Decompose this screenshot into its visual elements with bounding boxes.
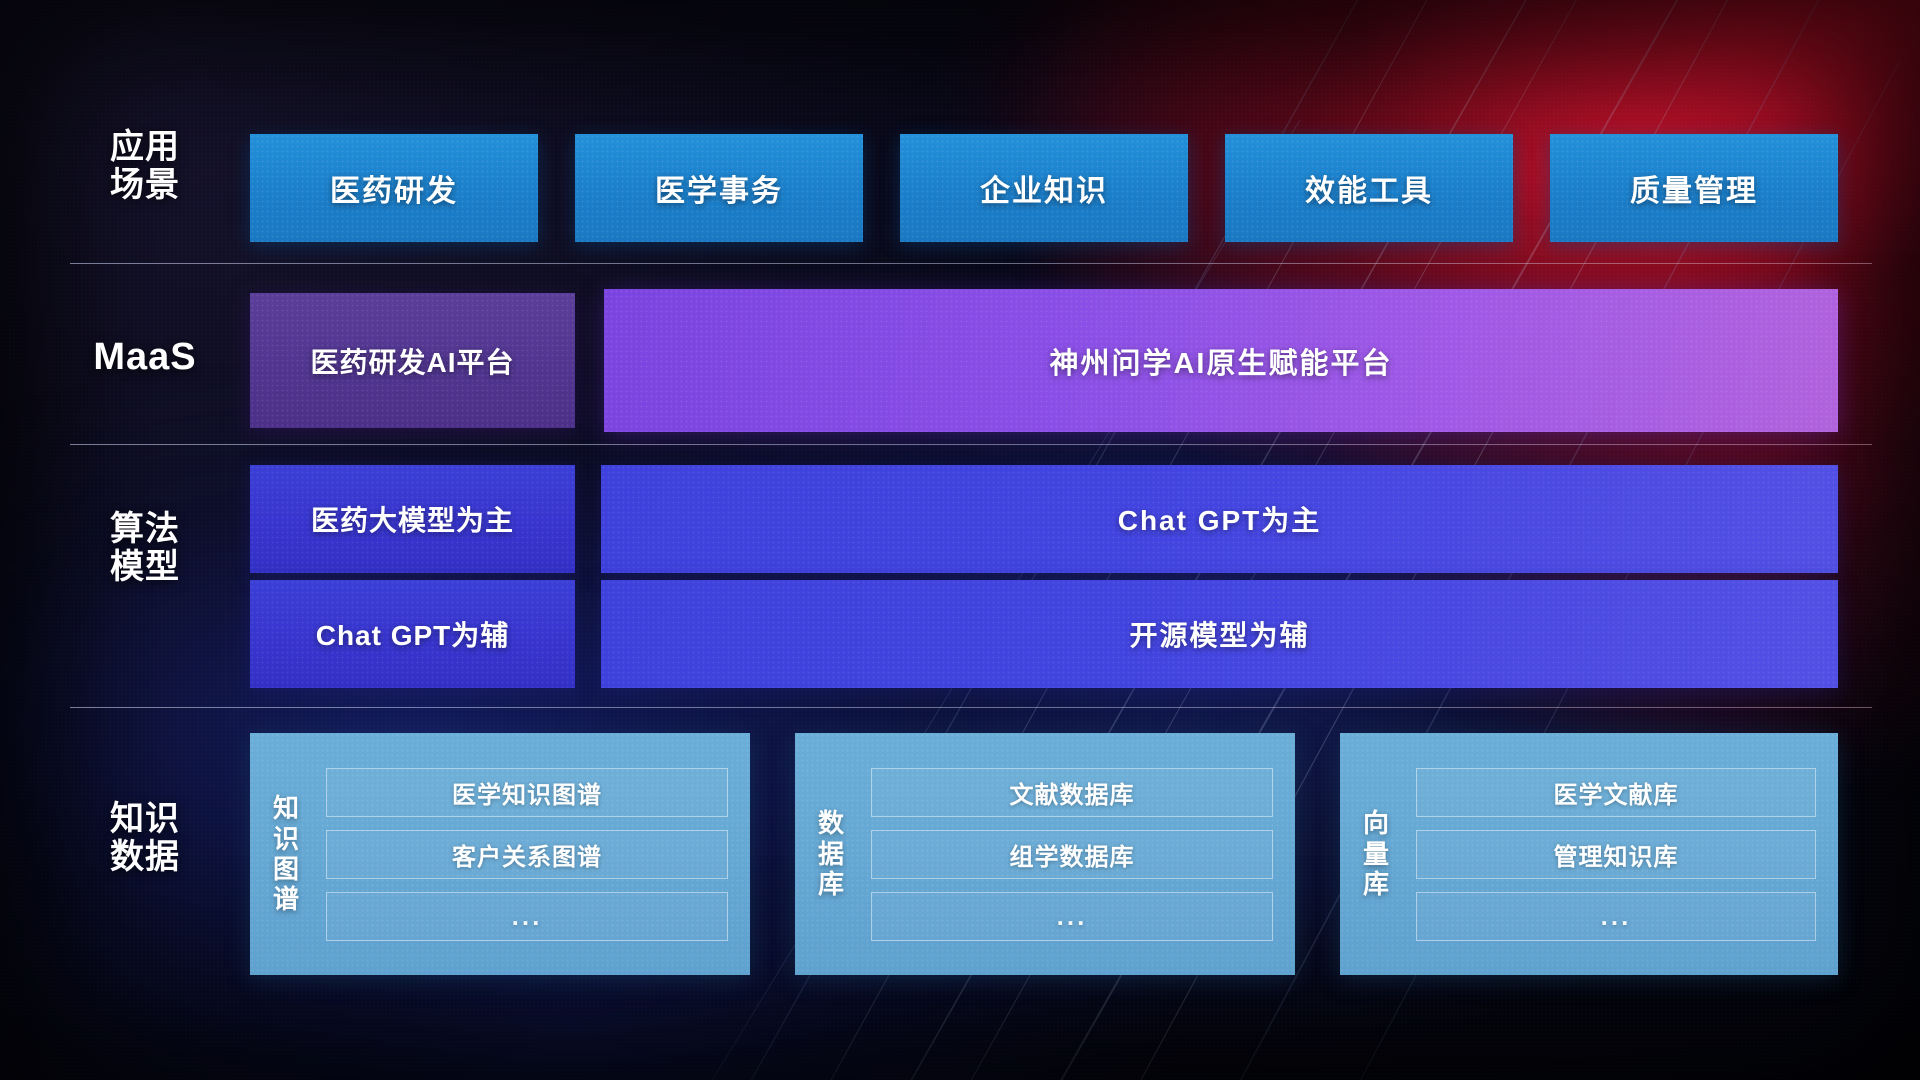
- knowledge-card-title-char: 图: [273, 854, 299, 884]
- algorithm-model-label: 医药大模型为主: [311, 499, 514, 539]
- algorithm-model-label: Chat GPT为辅: [316, 614, 510, 654]
- algorithm-model-box-primary-left[interactable]: 医药大模型为主: [250, 465, 575, 573]
- layer-label-line: 场景: [70, 166, 220, 204]
- knowledge-item[interactable]: 客户关系图谱: [326, 830, 728, 879]
- app-scenario-box-4[interactable]: 效能工具: [1225, 134, 1513, 242]
- knowledge-item[interactable]: 组学数据库: [871, 830, 1273, 879]
- algorithm-model-label: 开源模型为辅: [1129, 614, 1309, 654]
- knowledge-card-title-char: 数: [818, 808, 844, 838]
- knowledge-item[interactable]: 医学文献库: [1416, 768, 1816, 817]
- knowledge-card-knowledge-graph[interactable]: 知 识 图 谱 医学知识图谱 客户关系图谱 ...: [250, 733, 750, 975]
- knowledge-card-title: 数 据 库: [795, 733, 867, 975]
- layer-label-algorithm-models: 算法 模型: [70, 510, 220, 587]
- layer-label-knowledge-data: 知识 数据: [70, 800, 220, 877]
- layer-label-line: 应用: [70, 128, 220, 166]
- knowledge-item[interactable]: 文献数据库: [871, 768, 1273, 817]
- app-scenario-box-1[interactable]: 医药研发: [250, 134, 538, 242]
- layer-label-maas: MaaS: [70, 336, 220, 379]
- knowledge-card-database[interactable]: 数 据 库 文献数据库 组学数据库 ...: [795, 733, 1295, 975]
- app-scenario-label: 质量管理: [1630, 166, 1758, 210]
- knowledge-card-title-char: 识: [273, 824, 299, 854]
- app-scenario-box-5[interactable]: 质量管理: [1550, 134, 1838, 242]
- algorithm-model-box-secondary-left[interactable]: Chat GPT为辅: [250, 580, 575, 688]
- knowledge-card-title: 向 量 库: [1340, 733, 1412, 975]
- layer-label-line: 知识: [70, 800, 220, 838]
- knowledge-card-vector-store[interactable]: 向 量 库 医学文献库 管理知识库 ...: [1340, 733, 1838, 975]
- slide-canvas: 应用 场景 医药研发 医学事务 企业知识 效能工具 质量管理 MaaS 医药研发…: [0, 0, 1920, 1080]
- app-scenario-label: 医学事务: [655, 166, 783, 210]
- divider-after-maas: [70, 444, 1872, 445]
- app-scenario-label: 效能工具: [1305, 166, 1433, 210]
- app-scenario-box-2[interactable]: 医学事务: [575, 134, 863, 242]
- app-scenario-label: 医药研发: [330, 166, 458, 210]
- algorithm-model-label: Chat GPT为主: [1118, 499, 1322, 539]
- knowledge-card-title-char: 知: [273, 793, 299, 823]
- knowledge-item-more[interactable]: ...: [326, 892, 728, 941]
- algorithm-model-box-primary-right[interactable]: Chat GPT为主: [601, 465, 1838, 573]
- knowledge-card-title-char: 谱: [273, 884, 299, 914]
- knowledge-item[interactable]: 管理知识库: [1416, 830, 1816, 879]
- maas-platform-label: 医药研发AI平台: [310, 341, 514, 381]
- knowledge-card-title-char: 库: [1363, 869, 1389, 899]
- layer-label-line: 算法: [70, 510, 220, 548]
- layer-label-line: MaaS: [70, 336, 220, 379]
- maas-platform-box-pharma[interactable]: 医药研发AI平台: [250, 293, 575, 428]
- divider-after-application-scenarios: [70, 263, 1872, 264]
- knowledge-card-title-char: 据: [818, 839, 844, 869]
- divider-after-algorithm-models: [70, 707, 1872, 708]
- knowledge-card-title-char: 量: [1363, 839, 1389, 869]
- app-scenario-box-3[interactable]: 企业知识: [900, 134, 1188, 242]
- knowledge-item[interactable]: 医学知识图谱: [326, 768, 728, 817]
- knowledge-card-title-char: 向: [1363, 808, 1389, 838]
- knowledge-item-more[interactable]: ...: [1416, 892, 1816, 941]
- layer-label-line: 模型: [70, 548, 220, 586]
- knowledge-card-title-char: 库: [818, 869, 844, 899]
- layer-label-line: 数据: [70, 838, 220, 876]
- maas-platform-label: 神州问学AI原生赋能平台: [1049, 340, 1392, 382]
- knowledge-item-more[interactable]: ...: [871, 892, 1273, 941]
- knowledge-card-title: 知 识 图 谱: [250, 733, 322, 975]
- app-scenario-label: 企业知识: [980, 166, 1108, 210]
- algorithm-model-box-secondary-right[interactable]: 开源模型为辅: [601, 580, 1838, 688]
- maas-platform-box-shenzhou[interactable]: 神州问学AI原生赋能平台: [604, 289, 1838, 432]
- layer-label-application-scenarios: 应用 场景: [70, 128, 220, 205]
